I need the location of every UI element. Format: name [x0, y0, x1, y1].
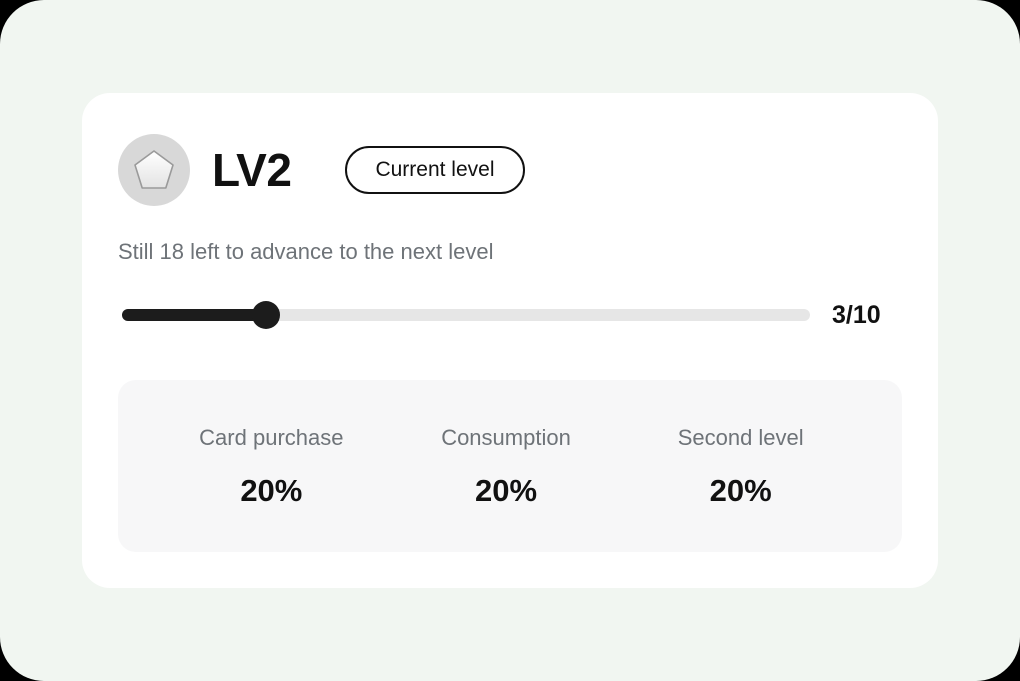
level-header: LV2 Current level [118, 134, 525, 206]
stat-value: 20% [475, 475, 537, 506]
progress-value-label: 3/10 [832, 303, 881, 328]
pentagon-gem-icon [118, 134, 190, 206]
stat-second-level: Second level 20% [623, 427, 858, 506]
level-progress-slider[interactable] [122, 296, 810, 334]
progress-hint-text: Still 18 left to advance to the next lev… [118, 241, 493, 263]
stat-card-purchase: Card purchase 20% [154, 427, 389, 506]
stat-value: 20% [710, 475, 772, 506]
status-badge[interactable]: Current level [345, 146, 524, 194]
stat-value: 20% [240, 475, 302, 506]
stats-row: Card purchase 20% Consumption 20% Second… [118, 380, 902, 552]
stats-panel: Card purchase 20% Consumption 20% Second… [118, 380, 902, 552]
stat-label: Second level [678, 427, 804, 449]
page-frame: LV2 Current level Still 18 left to advan… [0, 0, 1020, 681]
stat-consumption: Consumption 20% [389, 427, 624, 506]
stat-label: Card purchase [199, 427, 343, 449]
progress-fill [122, 309, 266, 321]
level-progress-card: LV2 Current level Still 18 left to advan… [82, 93, 938, 588]
slider-thumb-icon[interactable] [252, 301, 280, 329]
stat-label: Consumption [441, 427, 571, 449]
progress-row: 3/10 [122, 296, 906, 334]
page-title: LV2 [212, 147, 291, 193]
